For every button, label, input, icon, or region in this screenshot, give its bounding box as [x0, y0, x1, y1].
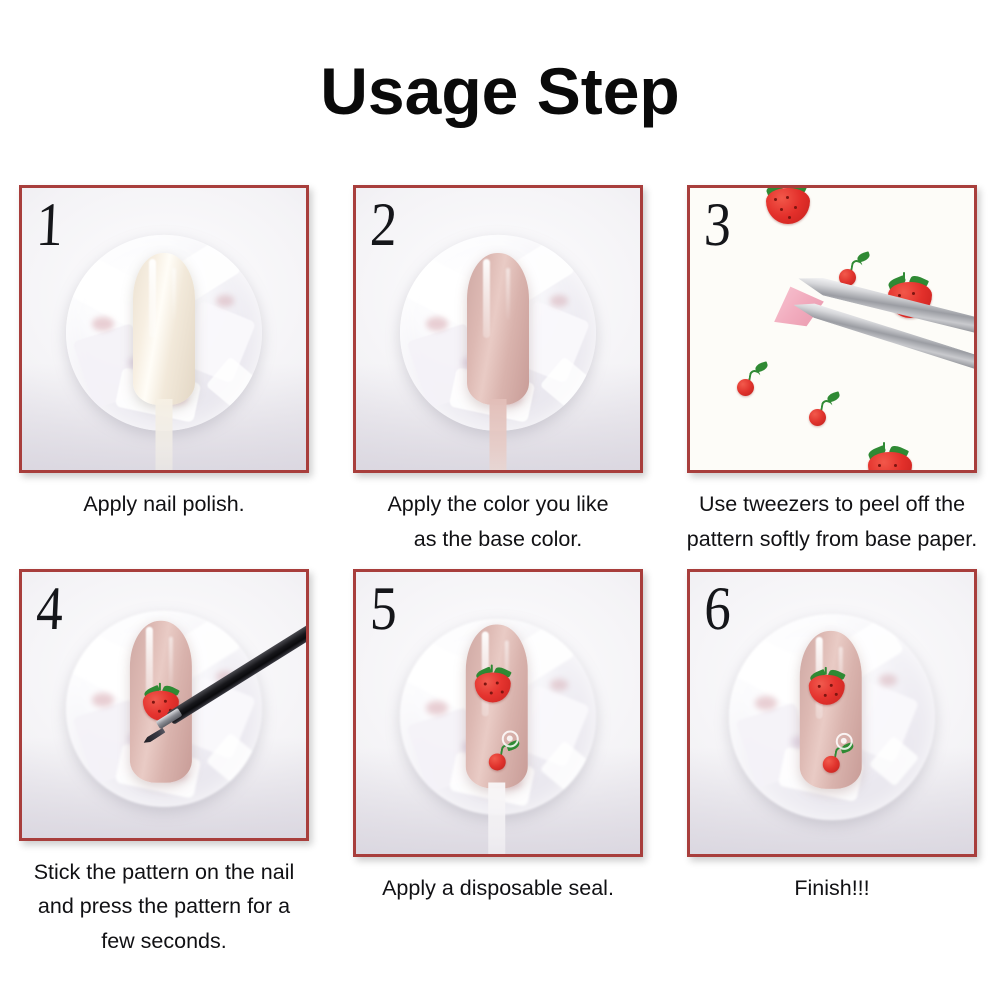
nail-tip-2 — [467, 253, 529, 405]
caption-line: Use tweezers to peel off the — [658, 487, 1000, 522]
step-caption-4: Stick the pattern on the nail and press … — [0, 855, 338, 959]
step-image-panel-4: 4 — [19, 569, 309, 841]
step-card-3: 3 Use tweezers to peel off the pattern s… — [686, 185, 978, 565]
steps-row-top: 1 Apply nail polish. — [18, 185, 986, 565]
step-card-5: 5 Apply a disposable seal. — [352, 569, 644, 959]
caption-line: pattern softly from base paper. — [658, 522, 1000, 557]
step-caption-6: Finish!!! — [673, 871, 991, 906]
nail-brush-tool — [140, 706, 306, 826]
strawberry-sticker — [764, 188, 812, 224]
dot-decal — [841, 738, 847, 744]
caption-line: few seconds. — [0, 924, 338, 959]
cherry-sticker — [736, 362, 772, 396]
seal-drip — [488, 782, 505, 854]
steps-row-bottom: 4 Stick the pattern on the nail and pres… — [18, 569, 986, 959]
caption-line: Finish!!! — [673, 871, 991, 906]
scene-5 — [356, 572, 640, 854]
scene-1 — [22, 188, 306, 470]
nail-surface — [467, 253, 529, 405]
sticker-sheet — [690, 188, 974, 470]
nail-surface — [800, 631, 862, 789]
step-number-1: 1 — [35, 190, 65, 261]
nail-surface — [133, 253, 195, 405]
polish-drip — [156, 399, 173, 470]
step-number-4: 4 — [35, 574, 65, 645]
dot-decal — [507, 735, 513, 741]
step-caption-5: Apply a disposable seal. — [339, 871, 657, 906]
strawberry-sticker — [866, 442, 914, 470]
page-title: Usage Step — [0, 58, 1000, 124]
step-caption-2: Apply the color you like as the base col… — [339, 487, 657, 557]
step-number-6: 6 — [703, 574, 733, 645]
scene-4 — [22, 572, 306, 838]
caption-line: Apply a disposable seal. — [339, 871, 657, 906]
scene-3 — [690, 188, 974, 470]
nail-tip-1 — [133, 253, 195, 405]
steps-grid: 1 Apply nail polish. — [18, 185, 986, 959]
scene-2 — [356, 188, 640, 470]
step-card-4: 4 Stick the pattern on the nail and pres… — [18, 569, 310, 959]
step-image-panel-5: 5 — [353, 569, 643, 857]
step-image-panel-1: 1 — [19, 185, 309, 473]
step-number-5: 5 — [369, 574, 399, 645]
strawberry-decal — [474, 664, 512, 702]
usage-step-infographic: Usage Step — [0, 0, 1000, 1000]
step-number-3: 3 — [703, 190, 733, 261]
nail-tip-6 — [800, 631, 862, 789]
step-caption-3: Use tweezers to peel off the pattern sof… — [658, 487, 1000, 557]
polish-drip — [490, 399, 507, 470]
step-image-panel-2: 2 — [353, 185, 643, 473]
caption-line: Stick the pattern on the nail — [0, 855, 338, 890]
step-caption-1: Apply nail polish. — [5, 487, 323, 522]
caption-line: Apply nail polish. — [5, 487, 323, 522]
tweezers-icon — [790, 262, 974, 348]
caption-line: and press the pattern for a — [0, 889, 338, 924]
strawberry-decal — [808, 667, 846, 705]
caption-line: Apply the color you like — [339, 487, 657, 522]
caption-line: as the base color. — [339, 522, 657, 557]
scene-6 — [690, 572, 974, 854]
step-image-panel-6: 6 — [687, 569, 977, 857]
nail-tip-5 — [466, 624, 528, 788]
step-card-2: 2 Apply the color you like as the base c… — [352, 185, 644, 565]
nail-surface — [466, 624, 528, 788]
step-card-1: 1 Apply nail polish. — [18, 185, 310, 565]
step-card-6: 6 Finish!!! — [686, 569, 978, 959]
step-number-2: 2 — [369, 190, 399, 261]
cherry-sticker — [808, 392, 844, 426]
step-image-panel-3: 3 — [687, 185, 977, 473]
